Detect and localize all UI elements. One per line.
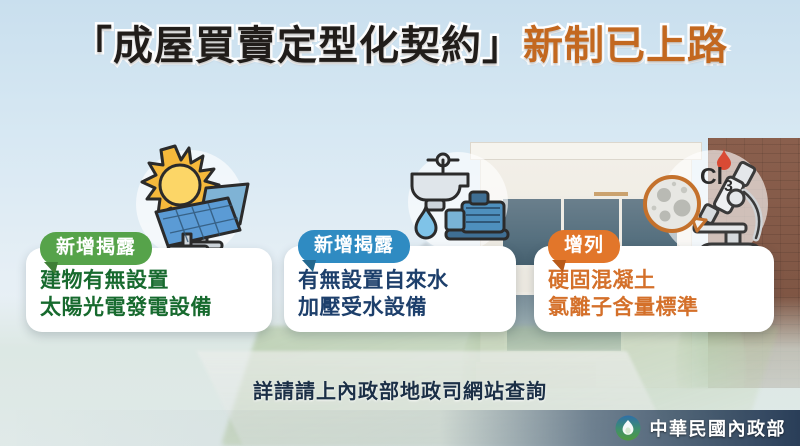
card-body-solar: 建物有無設置 太陽光電發電設備: [26, 261, 272, 332]
page-title: 「成屋買賣定型化契約」新制已上路: [0, 24, 800, 68]
card-line-1: 有無設置自來水: [298, 267, 504, 295]
card-line-1: 建物有無設置: [40, 267, 260, 295]
infographic-poster: 「成屋買賣定型化契約」新制已上路: [0, 0, 800, 446]
ministry-emblem-icon: [615, 415, 641, 441]
chloride-formula-label: Cl: [700, 163, 723, 189]
card-body-water: 有無設置自來水 加壓受水設備: [284, 261, 516, 332]
title-highlight-part: 新制已上路: [523, 24, 728, 68]
disclosure-card-chloride[interactable]: 增列 硬固混凝土 氯離子含量標準: [534, 246, 774, 332]
card-line-1: 硬固混凝土: [548, 267, 762, 295]
card-badge-water: 新增揭露: [298, 230, 410, 263]
disclosure-card-solar[interactable]: 新增揭露 建物有無設置 太陽光電發電設備: [26, 248, 272, 332]
microscope-icon: Cl 3: [640, 140, 780, 260]
card-badge-chloride: 增列: [548, 230, 620, 263]
chloride-formula-subscript: 3: [724, 178, 733, 195]
ministry-branding: 中華民國內政部: [601, 410, 800, 446]
title-quoted-part: 「成屋買賣定型化契約」: [72, 24, 523, 68]
water-pump-faucet-icon: [400, 148, 520, 258]
card-body-chloride: 硬固混凝土 氯離子含量標準: [534, 261, 774, 332]
ministry-name: 中華民國內政部: [650, 415, 787, 441]
footer-note: 詳請請上內政部地政司網站查詢: [0, 375, 800, 404]
card-badge-solar: 新增揭露: [40, 232, 152, 265]
card-line-2: 太陽光電發電設備: [40, 294, 260, 322]
card-line-2: 氯離子含量標準: [548, 294, 762, 322]
card-line-2: 加壓受水設備: [298, 294, 504, 322]
disclosure-card-water[interactable]: 新增揭露 有無設置自來水 加壓受水設備: [284, 246, 516, 332]
